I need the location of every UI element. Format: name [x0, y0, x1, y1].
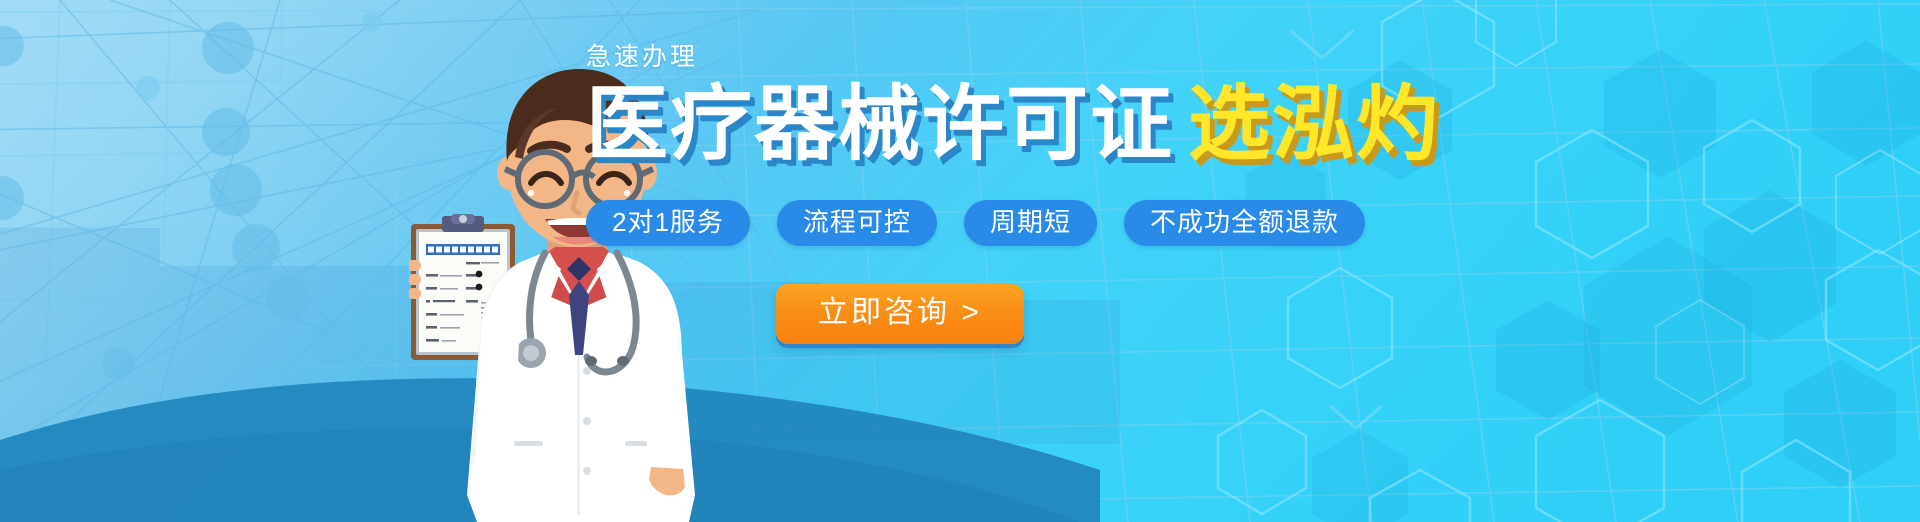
eyebrow-text: 急速办理 — [586, 40, 1586, 74]
headline-accent: 选泓灼 — [1188, 84, 1440, 166]
headline: 医疗器械许可证 选泓灼 — [586, 84, 1586, 166]
promo-banner: 急速办理 医疗器械许可证 选泓灼 2对1服务 流程可控 周期短 不成功全额退款 … — [0, 0, 1920, 522]
cta-container: 立即咨询 > — [586, 284, 1586, 344]
feature-tag-2[interactable]: 流程可控 — [777, 200, 937, 246]
headline-primary: 医疗器械许可证 — [586, 84, 1174, 166]
banner-content: 急速办理 医疗器械许可证 选泓灼 2对1服务 流程可控 周期短 不成功全额退款 … — [586, 40, 1586, 344]
feature-tag-1[interactable]: 2对1服务 — [586, 200, 750, 246]
feature-tag-list: 2对1服务 流程可控 周期短 不成功全额退款 — [586, 200, 1586, 246]
consult-now-button[interactable]: 立即咨询 > — [776, 284, 1024, 344]
feature-tag-4[interactable]: 不成功全额退款 — [1124, 200, 1365, 246]
feature-tag-3[interactable]: 周期短 — [964, 200, 1097, 246]
